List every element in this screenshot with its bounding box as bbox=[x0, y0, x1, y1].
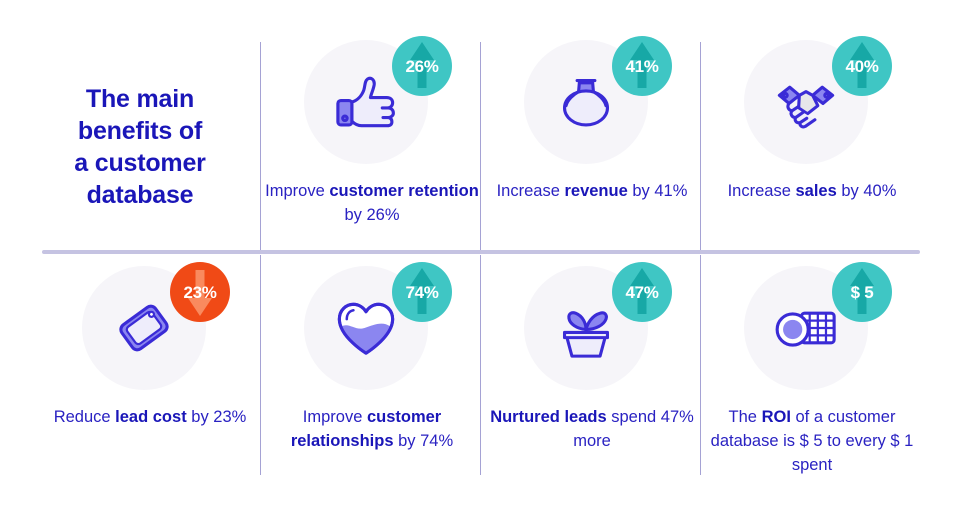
stat-badge-revenue: 41% bbox=[612, 36, 672, 96]
caption-text: by 26% bbox=[344, 206, 399, 224]
benefit-caption-customer-retention: Improve customer retention by 26% bbox=[265, 180, 480, 228]
caption-text: Improve bbox=[265, 182, 329, 200]
caption-text: Improve bbox=[303, 408, 367, 426]
benefit-cell-sales: 40%Increase sales by 40% bbox=[702, 36, 922, 204]
stat-badge-sales: 40% bbox=[832, 36, 892, 96]
benefit-caption-lead-cost: Reduce lead cost by 23% bbox=[43, 406, 258, 430]
stat-badge-label: 47% bbox=[625, 284, 658, 301]
stat-badge-customer-relationships: 74% bbox=[392, 262, 452, 322]
caption-text: Reduce bbox=[54, 408, 115, 426]
caption-text: by 40% bbox=[837, 182, 897, 200]
benefit-cell-lead-cost: 23%Reduce lead cost by 23% bbox=[40, 262, 260, 430]
stat-badge-customer-retention: 26% bbox=[392, 36, 452, 96]
benefit-cell-revenue: 41%Increase revenue by 41% bbox=[482, 36, 702, 204]
title-line: The main bbox=[86, 85, 194, 113]
icon-area-roi: $ 5 bbox=[732, 262, 892, 394]
stat-badge-label: 40% bbox=[845, 58, 878, 75]
caption-emphasis: Nurtured leads bbox=[490, 408, 606, 426]
stat-badge-label: 23% bbox=[183, 284, 216, 301]
icon-area-customer-retention: 26% bbox=[292, 36, 452, 168]
caption-text: by 74% bbox=[394, 432, 454, 450]
title-line: database bbox=[87, 181, 194, 209]
stat-badge-label: 26% bbox=[405, 58, 438, 75]
benefit-cell-roi: $ 5The ROI of a customer database is $ 5… bbox=[702, 262, 922, 478]
benefit-cell-nurtured-leads: 47%Nurtured leads spend 47% more bbox=[482, 262, 702, 454]
stat-badge-label: 41% bbox=[625, 58, 658, 75]
benefit-caption-customer-relationships: Improve customer relationships by 74% bbox=[265, 406, 480, 454]
benefit-cell-customer-retention: 26%Improve customer retention by 26% bbox=[262, 36, 482, 228]
stat-badge-label: $ 5 bbox=[851, 284, 874, 301]
divider-vertical-1-bottom bbox=[260, 255, 261, 475]
caption-text: Increase bbox=[497, 182, 565, 200]
icon-area-nurtured-leads: 47% bbox=[512, 262, 672, 394]
title-cell: The mainbenefits ofa customerdatabase bbox=[30, 52, 250, 242]
caption-emphasis: customer retention bbox=[329, 182, 478, 200]
caption-emphasis: sales bbox=[795, 182, 836, 200]
title-line: a customer bbox=[74, 149, 205, 177]
caption-emphasis: ROI bbox=[762, 408, 791, 426]
caption-emphasis: revenue bbox=[564, 182, 627, 200]
benefit-caption-nurtured-leads: Nurtured leads spend 47% more bbox=[485, 406, 700, 454]
infographic-root: The mainbenefits ofa customerdatabase 26… bbox=[0, 0, 961, 505]
caption-emphasis: lead cost bbox=[115, 408, 187, 426]
icon-area-customer-relationships: 74% bbox=[292, 262, 452, 394]
benefit-caption-roi: The ROI of a customer database is $ 5 to… bbox=[705, 406, 920, 478]
title-line: benefits of bbox=[78, 117, 202, 145]
stat-badge-lead-cost: 23% bbox=[170, 262, 230, 322]
icon-area-sales: 40% bbox=[732, 36, 892, 168]
caption-text: Increase bbox=[728, 182, 796, 200]
stat-badge-nurtured-leads: 47% bbox=[612, 262, 672, 322]
divider-vertical-1-top bbox=[260, 42, 261, 250]
benefit-caption-revenue: Increase revenue by 41% bbox=[485, 180, 700, 204]
page-title: The mainbenefits ofa customerdatabase bbox=[74, 83, 205, 211]
stat-badge-roi: $ 5 bbox=[832, 262, 892, 322]
icon-area-lead-cost: 23% bbox=[70, 262, 230, 394]
caption-text: The bbox=[729, 408, 762, 426]
stat-badge-label: 74% bbox=[405, 284, 438, 301]
icon-area-revenue: 41% bbox=[512, 36, 672, 168]
caption-text: by 41% bbox=[628, 182, 688, 200]
benefit-cell-customer-relationships: 74%Improve customer relationships by 74% bbox=[262, 262, 482, 454]
caption-text: by 23% bbox=[187, 408, 247, 426]
divider-horizontal bbox=[42, 250, 920, 254]
benefit-caption-sales: Increase sales by 40% bbox=[705, 180, 920, 204]
